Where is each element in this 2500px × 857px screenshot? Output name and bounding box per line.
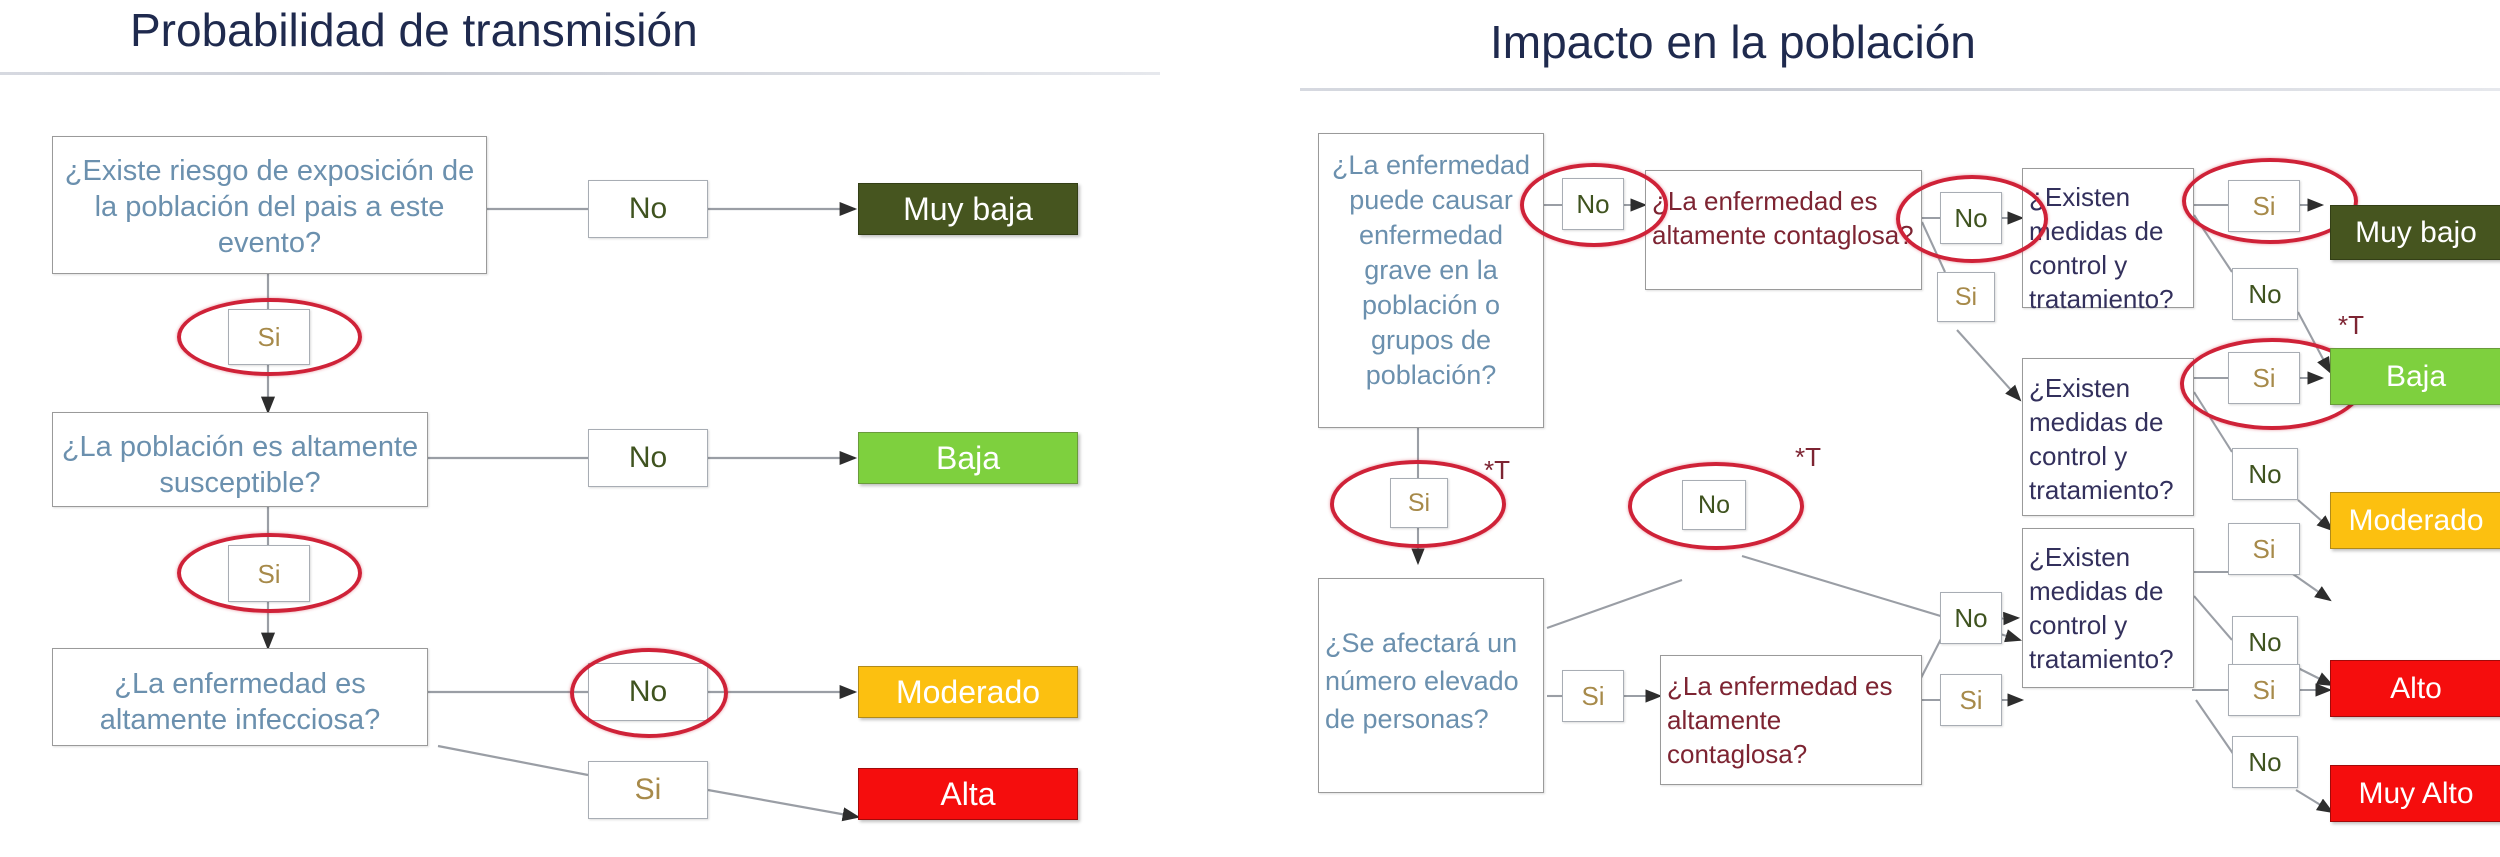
question-text: ¿La enfermedad puede causar enfermedad g… [1325, 148, 1537, 393]
decision-box-no[interactable]: No [2232, 736, 2298, 788]
decision-box-no[interactable]: No [1682, 480, 1746, 530]
decision-box-no[interactable]: No [2232, 616, 2298, 668]
decision-label: No [2248, 749, 2281, 775]
decision-box-no[interactable]: No [588, 180, 708, 238]
decision-box-si[interactable]: Si [1562, 670, 1624, 722]
decision-label: Si [2252, 365, 2275, 391]
decision-label: No [629, 677, 667, 707]
result-box: Baja [858, 432, 1078, 484]
decision-box-si[interactable]: Si [1937, 272, 1995, 322]
page-title-right: Impacto en la población [1490, 15, 1976, 69]
decision-box-si[interactable]: Si [1390, 478, 1448, 528]
result-label: Moderado [896, 674, 1040, 711]
result-box: Moderado [858, 666, 1078, 718]
question-text: ¿Existen medidas de control y tratamient… [2029, 540, 2187, 676]
decision-label: Si [2252, 677, 2275, 703]
question-box[interactable]: ¿La enfermedad es altamente infecciosa? [52, 648, 428, 746]
question-text: ¿La población es altamente susceptible? [59, 429, 421, 501]
decision-box-si[interactable]: Si [2228, 352, 2300, 404]
question-box[interactable]: ¿La enfermedad es altamente contaglosa? [1645, 170, 1922, 290]
decision-box-no[interactable]: No [2232, 448, 2298, 500]
decision-label: Si [257, 561, 280, 587]
question-box[interactable]: ¿Existen medidas de control y tratamient… [2022, 528, 2194, 688]
decision-box-no[interactable]: No [588, 429, 708, 487]
result-box: Muy bajo [2330, 205, 2500, 260]
decision-label: No [1954, 605, 1987, 631]
result-box: Alta [858, 768, 1078, 820]
question-box[interactable]: ¿La enfermedad es altamente contaglosa? [1660, 655, 1922, 785]
decision-label: Si [635, 775, 662, 805]
decision-box-si[interactable]: Si [228, 545, 310, 602]
decision-box-no[interactable]: No [1940, 192, 2002, 244]
decision-label: Si [1581, 683, 1604, 709]
decision-box-si[interactable]: Si [2228, 180, 2300, 232]
question-text: ¿Se afectará un número elevado de person… [1325, 624, 1537, 738]
question-text: ¿Existe riesgo de exposición de la pobla… [59, 153, 480, 261]
result-label: Muy Alto [2358, 777, 2473, 811]
result-label: Moderado [2348, 504, 2483, 538]
transition-annotation: *T [1795, 442, 1821, 473]
question-text: ¿La enfermedad es altamente infecciosa? [59, 666, 421, 738]
result-box: Alto [2330, 660, 2500, 717]
result-label: Alto [2390, 672, 2442, 706]
title-divider-right [1300, 88, 2500, 91]
decision-box-si[interactable]: Si [1940, 674, 2002, 726]
decision-box-no[interactable]: No [2232, 268, 2298, 320]
result-label: Alta [940, 776, 995, 813]
decision-box-no[interactable]: No [588, 663, 708, 721]
question-box[interactable]: ¿La población es altamente susceptible? [52, 412, 428, 507]
panel-probabilidad-transmision: Probabilidad de transmisión [0, 0, 1180, 857]
result-box: Baja [2330, 348, 2500, 405]
decision-label: Si [1955, 285, 1977, 310]
decision-label: No [1698, 493, 1730, 518]
question-box[interactable]: ¿Existen medidas de control y tratamient… [2022, 168, 2194, 308]
decision-box-no[interactable]: No [1940, 592, 2002, 644]
question-text: ¿Existen medidas de control y tratamient… [2029, 371, 2187, 507]
result-box: Moderado [2330, 492, 2500, 549]
decision-label: Si [1408, 491, 1430, 516]
question-box[interactable]: ¿Se afectará un número elevado de person… [1318, 578, 1544, 793]
result-box: Muy Alto [2330, 765, 2500, 822]
result-label: Baja [2386, 360, 2446, 394]
result-label: Muy baja [903, 191, 1033, 228]
question-text: ¿La enfermedad es altamente contaglosa? [1652, 184, 1915, 252]
page-title-left: Probabilidad de transmisión [130, 3, 698, 57]
transition-annotation: *T [1484, 455, 1510, 486]
decision-box-si[interactable]: Si [228, 309, 310, 365]
decision-label: No [1576, 191, 1609, 217]
decision-label: No [2248, 629, 2281, 655]
decision-label: No [629, 194, 667, 224]
result-label: Muy bajo [2355, 216, 2477, 250]
result-label: Baja [936, 440, 1000, 477]
decision-box-si[interactable]: Si [2228, 523, 2300, 575]
decision-box-si[interactable]: Si [588, 761, 708, 819]
decision-label: No [2248, 281, 2281, 307]
decision-label: Si [257, 324, 280, 350]
question-box[interactable]: ¿Existen medidas de control y tratamient… [2022, 358, 2194, 516]
decision-label: Si [1959, 687, 1982, 713]
decision-label: Si [2252, 536, 2275, 562]
result-box: Muy baja [858, 183, 1078, 235]
decision-label: Si [2252, 193, 2275, 219]
question-text: ¿La enfermedad es altamente contaglosa? [1667, 669, 1915, 771]
decision-box-si[interactable]: Si [2228, 664, 2300, 716]
decision-label: No [2248, 461, 2281, 487]
transition-annotation: *T [2338, 310, 2364, 341]
question-box[interactable]: ¿La enfermedad puede causar enfermedad g… [1318, 133, 1544, 428]
decision-label: No [1954, 205, 1987, 231]
question-text: ¿Existen medidas de control y tratamient… [2029, 180, 2187, 316]
decision-box-no[interactable]: No [1562, 178, 1624, 230]
title-divider-left [0, 72, 1160, 75]
question-box[interactable]: ¿Existe riesgo de exposición de la pobla… [52, 136, 487, 274]
decision-label: No [629, 443, 667, 473]
